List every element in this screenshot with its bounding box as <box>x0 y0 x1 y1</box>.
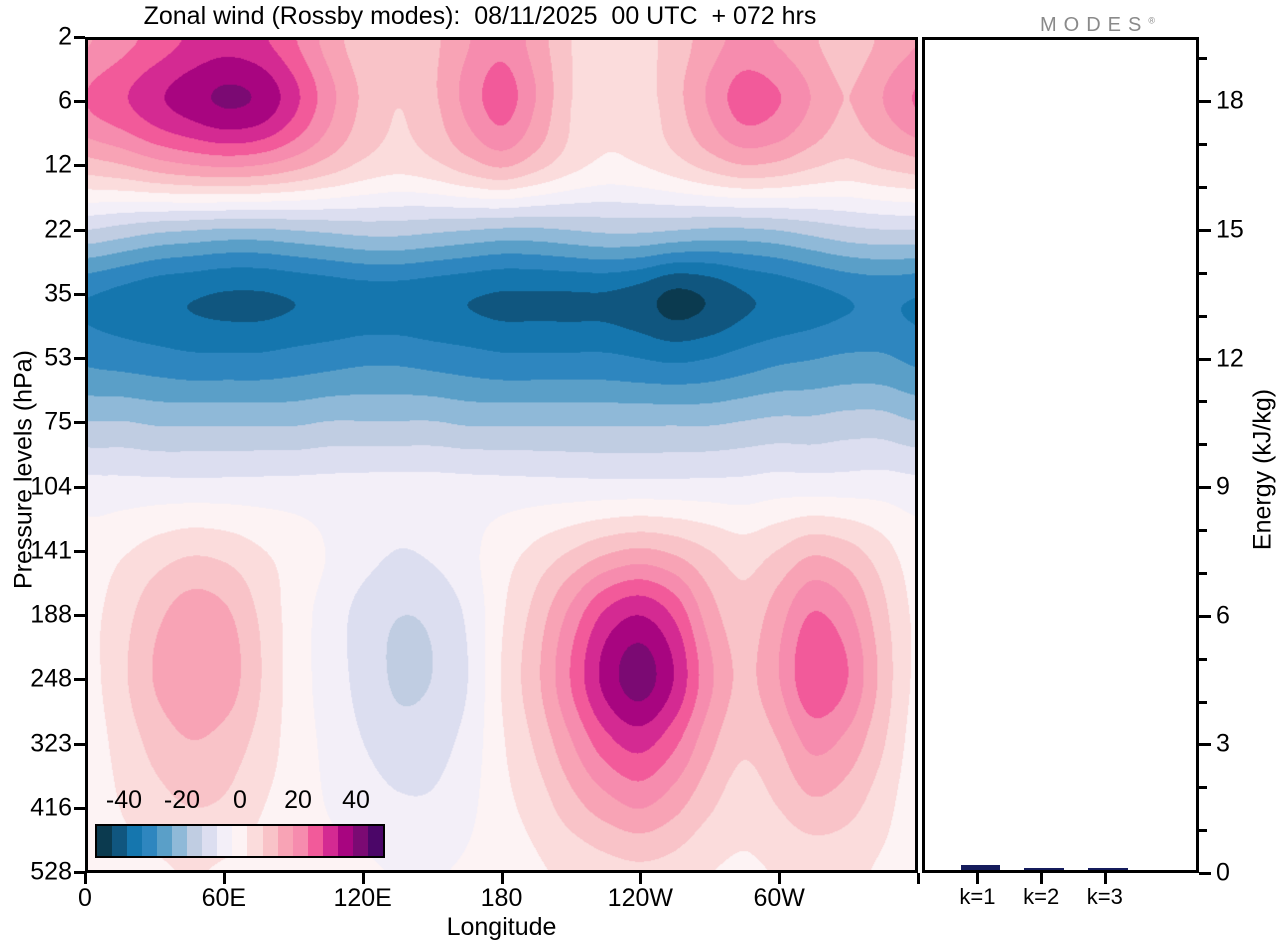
longitude-tick-180: 180 <box>481 884 523 913</box>
colorbar-tick-20: 20 <box>284 786 312 815</box>
colorbar-segment-17 <box>353 826 368 856</box>
wavenumber-tick-mark <box>1104 873 1107 884</box>
energy-tick-0: 0 <box>1216 859 1230 888</box>
energy-tick-mark <box>1199 358 1211 361</box>
pressure-tick-mark <box>74 550 85 553</box>
pressure-tick-416: 416 <box>30 793 72 822</box>
energy-tick-mark <box>1199 315 1207 318</box>
longitude-tick-mark <box>362 873 365 884</box>
energy-tick-mark <box>1199 572 1207 575</box>
wavenumber-label-k3: k=3 <box>1087 884 1123 910</box>
colorbar-segment-1 <box>112 826 127 856</box>
wavenumber-tick-mark <box>976 873 979 884</box>
pressure-tick-528: 528 <box>30 858 72 887</box>
pressure-tick-mark <box>74 229 85 232</box>
energy-tick-mark <box>1199 872 1211 875</box>
colorbar-tick-40: 40 <box>342 786 370 815</box>
longitude-tick-mark <box>223 873 226 884</box>
pressure-tick-mark <box>74 357 85 360</box>
longitude-tick-mark <box>778 873 781 884</box>
energy-tick-mark <box>1199 658 1207 661</box>
energy-tick-mark <box>1199 143 1207 146</box>
colorbar-tick--40: -40 <box>106 786 142 815</box>
pressure-tick-mark <box>74 486 85 489</box>
pressure-tick-75: 75 <box>44 408 72 437</box>
energy-tick-mark <box>1199 786 1207 789</box>
colorbar-segment-18 <box>368 826 383 856</box>
longitude-tick-120W: 120W <box>608 884 673 913</box>
longitude-tick-60E: 60E <box>202 884 246 913</box>
wavenumber-label-k1: k=1 <box>959 884 995 910</box>
colorbar-segment-10 <box>247 826 262 856</box>
longitude-tick-mark <box>917 873 920 884</box>
pressure-tick-53: 53 <box>44 344 72 373</box>
pressure-tick-mark <box>74 421 85 424</box>
pressure-axis-title: Pressure levels (hPa) <box>10 260 39 680</box>
pressure-tick-323: 323 <box>30 729 72 758</box>
pressure-tick-mark <box>74 743 85 746</box>
pressure-tick-mark <box>74 678 85 681</box>
modes-watermark: MODES® <box>1040 14 1155 37</box>
page-title: Zonal wind (Rossby modes): 08/11/2025 00… <box>0 2 960 31</box>
energy-tick-mark <box>1199 229 1211 232</box>
colorbar-segment-0 <box>97 826 112 856</box>
colorbar-segment-4 <box>157 826 172 856</box>
pressure-tick-2: 2 <box>58 23 72 52</box>
energy-tick-12: 12 <box>1216 344 1244 373</box>
colorbar-segment-3 <box>142 826 157 856</box>
energy-tick-mark <box>1199 100 1211 103</box>
energy-tick-mark <box>1199 615 1211 618</box>
watermark-text: MODES <box>1040 14 1148 36</box>
pressure-tick-mark <box>74 614 85 617</box>
longitude-tick-60W: 60W <box>753 884 804 913</box>
energy-tick-mark <box>1199 57 1207 60</box>
pressure-tick-35: 35 <box>44 279 72 308</box>
colorbar-segment-12 <box>278 826 293 856</box>
energy-tick-mark <box>1199 272 1207 275</box>
longitude-tick-mark <box>639 873 642 884</box>
longitude-axis-title: Longitude <box>85 913 918 942</box>
colorbar <box>95 824 385 858</box>
colorbar-tick-0: 0 <box>233 786 247 815</box>
energy-tick-mark <box>1199 400 1207 403</box>
pressure-tick-22: 22 <box>44 215 72 244</box>
pressure-tick-mark <box>74 807 85 810</box>
energy-tick-6: 6 <box>1216 601 1230 630</box>
energy-bar-k2 <box>1024 868 1063 870</box>
energy-tick-mark <box>1199 829 1207 832</box>
pressure-tick-mark <box>74 164 85 167</box>
pressure-tick-mark <box>74 36 85 39</box>
registered-icon: ® <box>1148 15 1155 25</box>
energy-tick-15: 15 <box>1216 215 1244 244</box>
contour-canvas <box>88 40 915 870</box>
energy-tick-18: 18 <box>1216 87 1244 116</box>
colorbar-segment-2 <box>127 826 142 856</box>
longitude-tick-120E: 120E <box>333 884 391 913</box>
energy-tick-mark <box>1199 529 1207 532</box>
colorbar-segment-14 <box>308 826 323 856</box>
colorbar-segment-11 <box>263 826 278 856</box>
colorbar-tick--20: -20 <box>164 786 200 815</box>
colorbar-segment-15 <box>323 826 338 856</box>
energy-tick-mark <box>1199 701 1207 704</box>
figure-root: Zonal wind (Rossby modes): 08/11/2025 00… <box>0 0 1280 942</box>
longitude-tick-0: 0 <box>78 884 92 913</box>
energy-tick-mark <box>1199 186 1207 189</box>
colorbar-segment-5 <box>172 826 187 856</box>
colorbar-segment-13 <box>293 826 308 856</box>
colorbar-wrap <box>95 824 385 858</box>
energy-bar-k1 <box>961 865 1000 870</box>
wavenumber-tick-mark <box>1040 873 1043 884</box>
wavenumber-label-k2: k=2 <box>1023 884 1059 910</box>
longitude-tick-mark <box>501 873 504 884</box>
pressure-tick-6: 6 <box>58 87 72 116</box>
colorbar-segment-16 <box>338 826 353 856</box>
energy-tick-mark <box>1199 486 1211 489</box>
colorbar-segment-6 <box>187 826 202 856</box>
pressure-tick-mark <box>74 100 85 103</box>
energy-tick-9: 9 <box>1216 473 1230 502</box>
energy-axis-title: Energy (kJ/kg) <box>1249 260 1278 680</box>
energy-tick-mark <box>1199 443 1207 446</box>
colorbar-segment-7 <box>202 826 217 856</box>
longitude-tick-mark <box>84 873 87 884</box>
energy-tick-mark <box>1199 743 1211 746</box>
energy-bar-k3 <box>1088 868 1127 870</box>
energy-spectrum-panel <box>922 37 1199 873</box>
pressure-tick-12: 12 <box>44 151 72 180</box>
zonal-wind-contour-panel <box>85 37 918 873</box>
colorbar-segment-9 <box>232 826 247 856</box>
pressure-tick-mark <box>74 293 85 296</box>
colorbar-segment-8 <box>217 826 232 856</box>
energy-tick-3: 3 <box>1216 730 1230 759</box>
